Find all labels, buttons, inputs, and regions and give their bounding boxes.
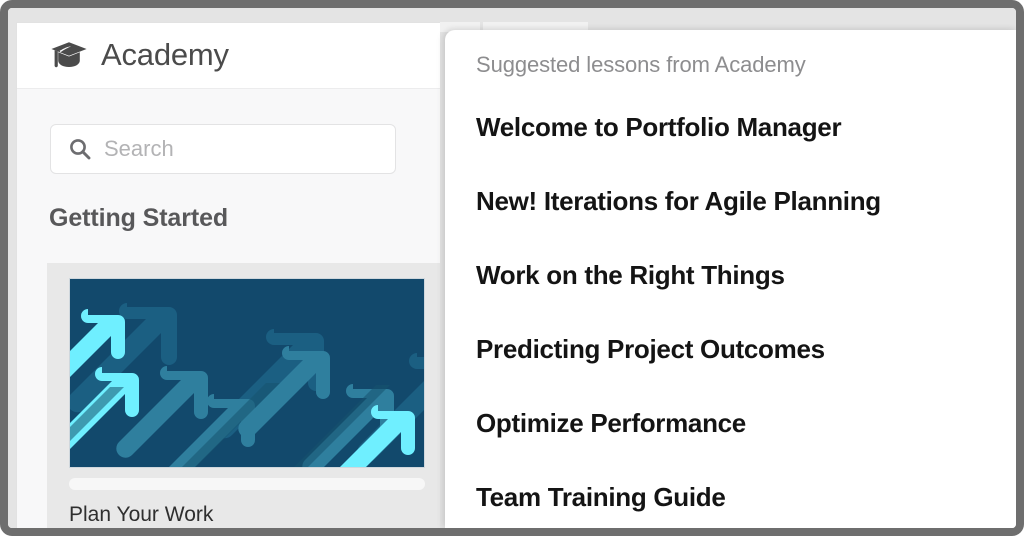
lesson-title: Team Training Guide bbox=[476, 482, 726, 512]
search-input[interactable]: Search bbox=[50, 124, 396, 174]
lesson-card-progress-bar bbox=[69, 478, 425, 490]
list-item[interactable]: Work on the Right Things bbox=[445, 260, 1016, 334]
suggested-lessons-heading: Suggested lessons from Academy bbox=[476, 52, 806, 78]
app-viewport: Academy Search Getting Started bbox=[8, 8, 1016, 528]
lesson-card-label: Plan Your Work bbox=[69, 503, 213, 527]
academy-sidebar: Academy Search Getting Started bbox=[16, 22, 440, 528]
lesson-title: Welcome to Portfolio Manager bbox=[476, 112, 841, 142]
lesson-title: Work on the Right Things bbox=[476, 260, 785, 290]
academy-title: Academy bbox=[101, 37, 229, 73]
suggested-lessons-list: Welcome to Portfolio Manager New! Iterat… bbox=[445, 112, 1016, 528]
lesson-title: Optimize Performance bbox=[476, 408, 746, 438]
list-item[interactable]: Predicting Project Outcomes bbox=[445, 334, 1016, 408]
lesson-title: New! Iterations for Agile Planning bbox=[476, 186, 881, 216]
list-item[interactable]: Team Training Guide bbox=[445, 482, 1016, 528]
section-title-getting-started: Getting Started bbox=[49, 204, 228, 233]
graduation-cap-icon bbox=[50, 40, 88, 70]
academy-brand[interactable]: Academy bbox=[50, 37, 229, 73]
list-item[interactable]: New! Iterations for Agile Planning bbox=[445, 186, 1016, 260]
list-item[interactable]: Welcome to Portfolio Manager bbox=[445, 112, 1016, 186]
sidebar-header: Academy bbox=[17, 23, 440, 89]
search-icon bbox=[68, 137, 92, 161]
search-placeholder: Search bbox=[104, 136, 174, 162]
window-frame: Academy Search Getting Started bbox=[0, 0, 1024, 536]
lesson-title: Predicting Project Outcomes bbox=[476, 334, 825, 364]
lesson-card-thumbnail bbox=[69, 278, 425, 468]
list-item[interactable]: Optimize Performance bbox=[445, 408, 1016, 482]
lesson-card-plan-your-work[interactable]: Plan Your Work bbox=[47, 263, 440, 528]
suggested-lessons-panel: Suggested lessons from Academy Welcome t… bbox=[445, 30, 1016, 528]
